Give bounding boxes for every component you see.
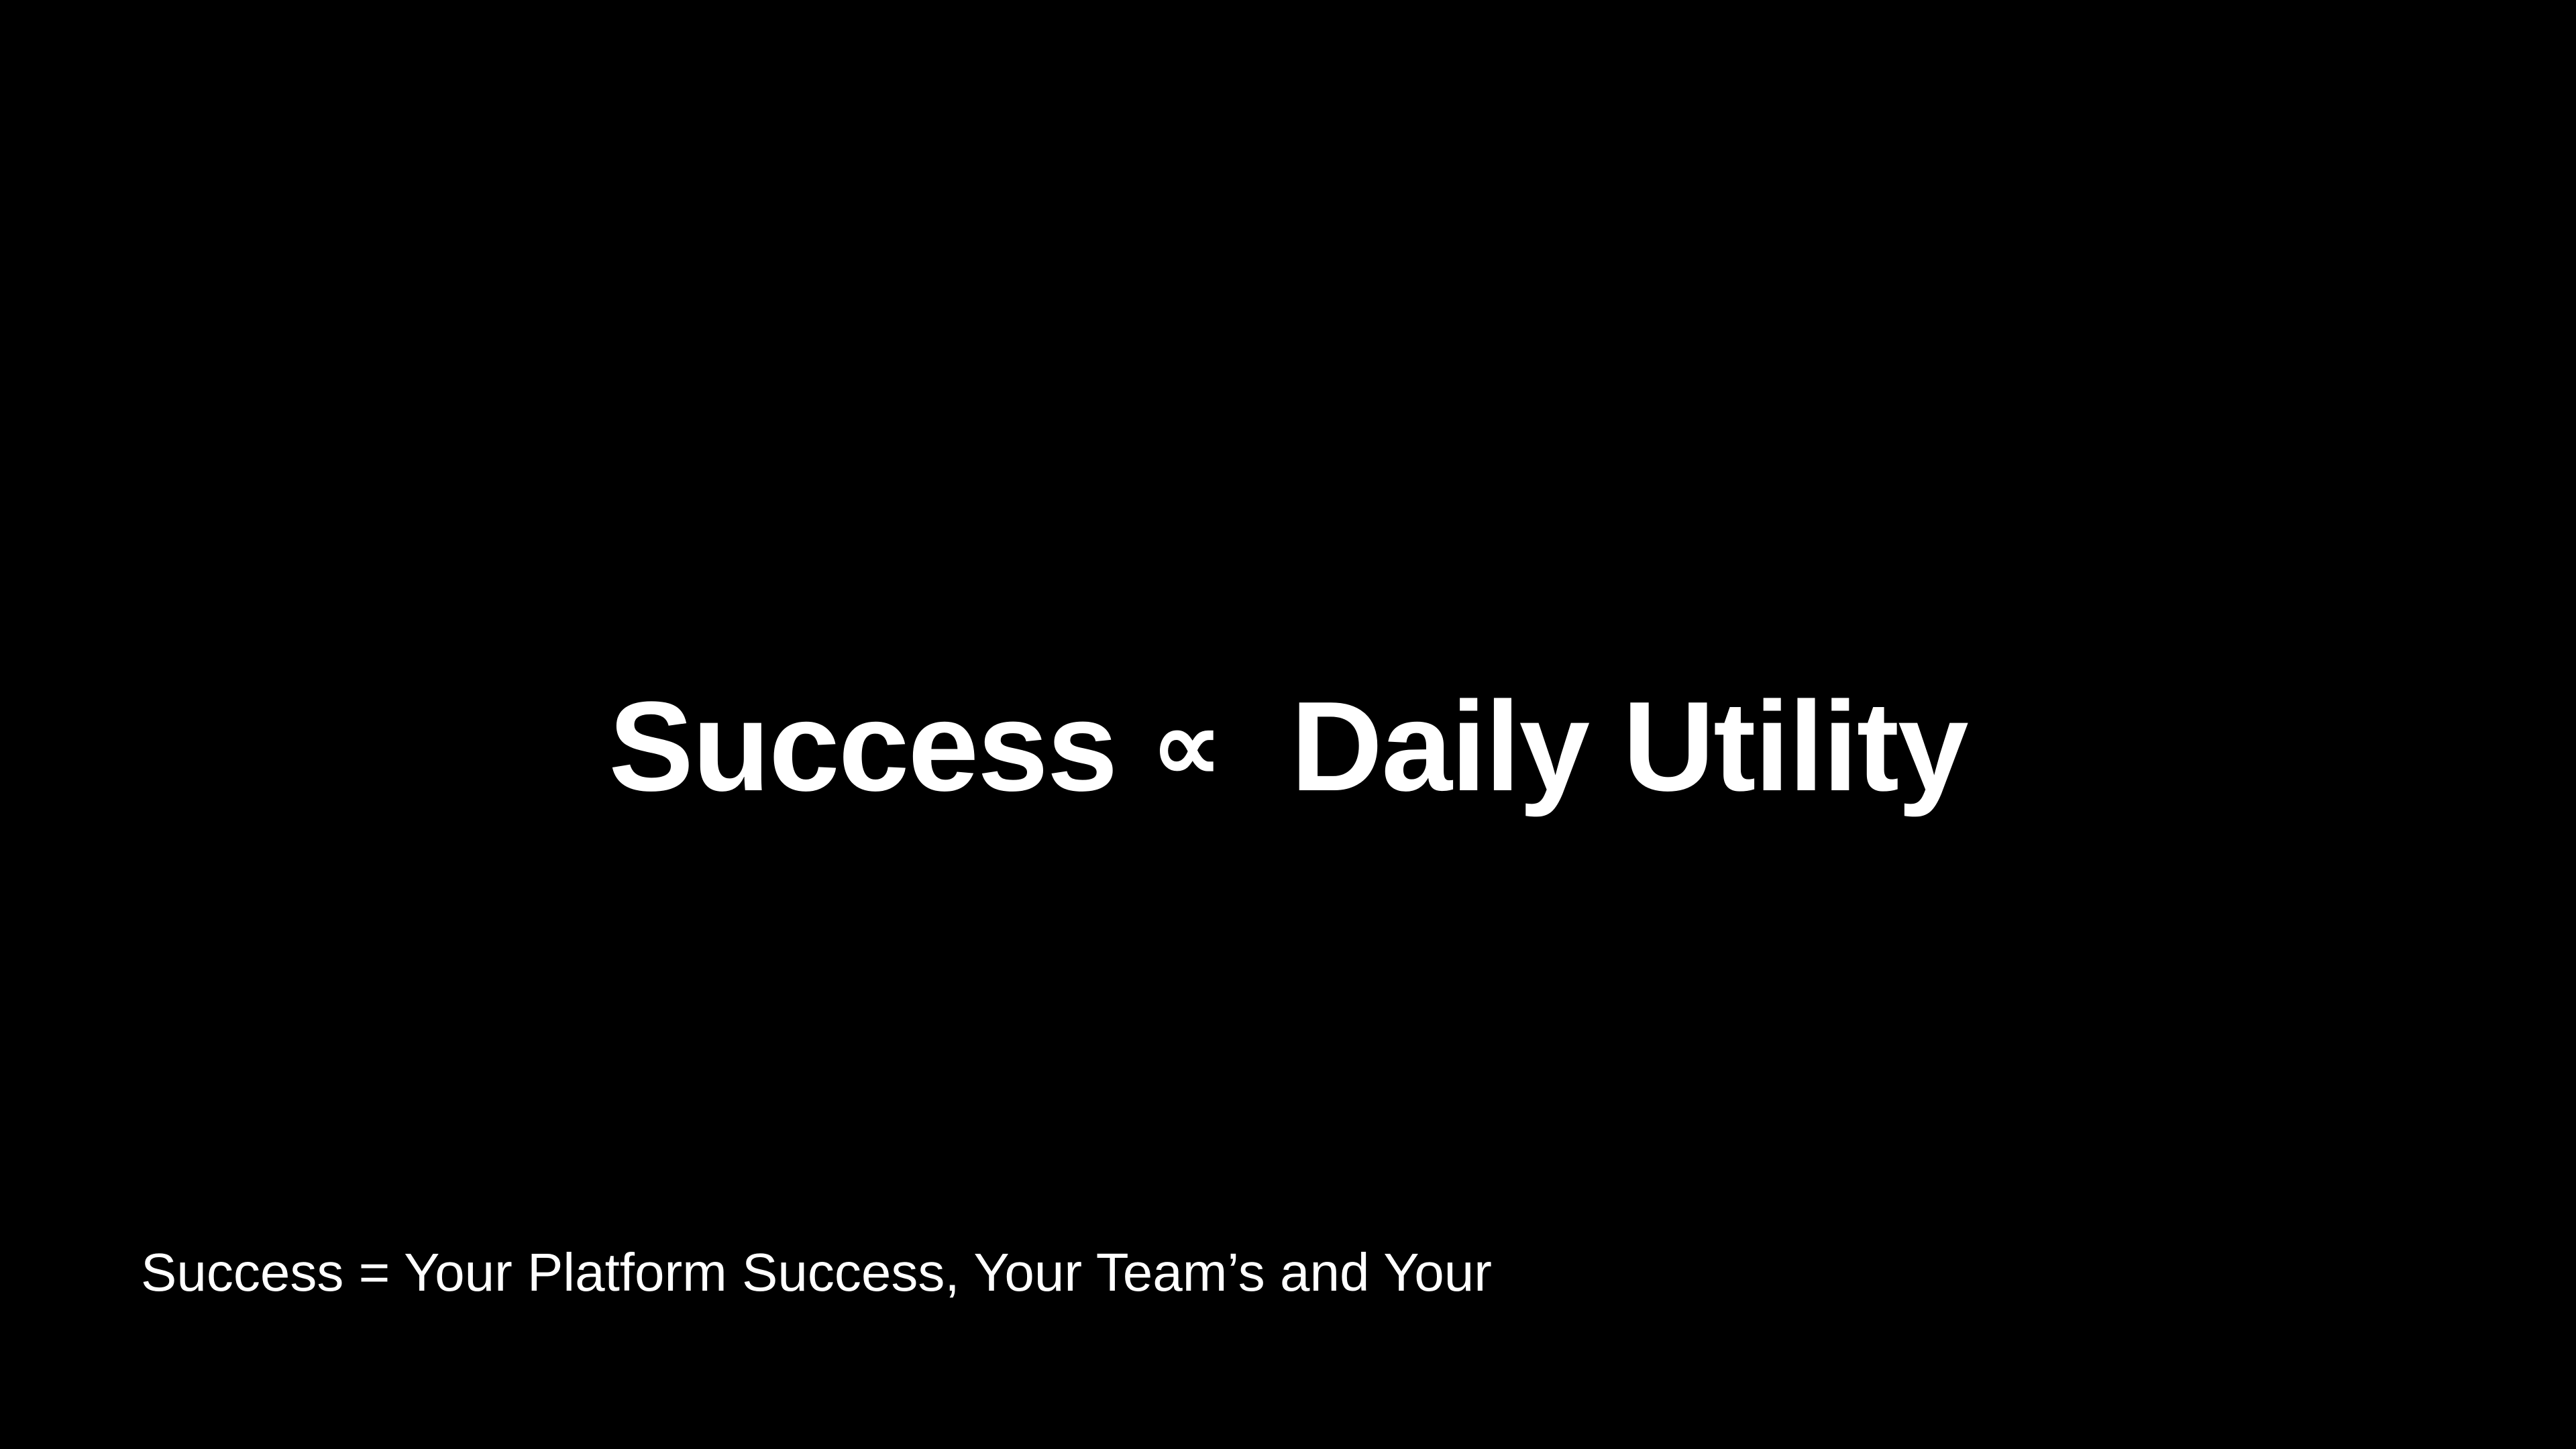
headline-container: Success ∝ Daily Utility	[0, 590, 2576, 904]
headline-spacer-left	[1116, 676, 1150, 818]
page-title: Success ∝ Daily Utility	[608, 676, 1967, 818]
headline-lead-text: Success	[608, 676, 1116, 818]
proportional-to-symbol: ∝	[1150, 690, 1222, 802]
subtitle-text: Success = Your Platform Success, Your Te…	[141, 1239, 1492, 1306]
headline-trail-text: Daily Utility	[1291, 676, 1968, 818]
presentation-slide: Success ∝ Daily Utility Success = Your P…	[0, 0, 2576, 1449]
headline-spacer-right	[1222, 676, 1291, 818]
